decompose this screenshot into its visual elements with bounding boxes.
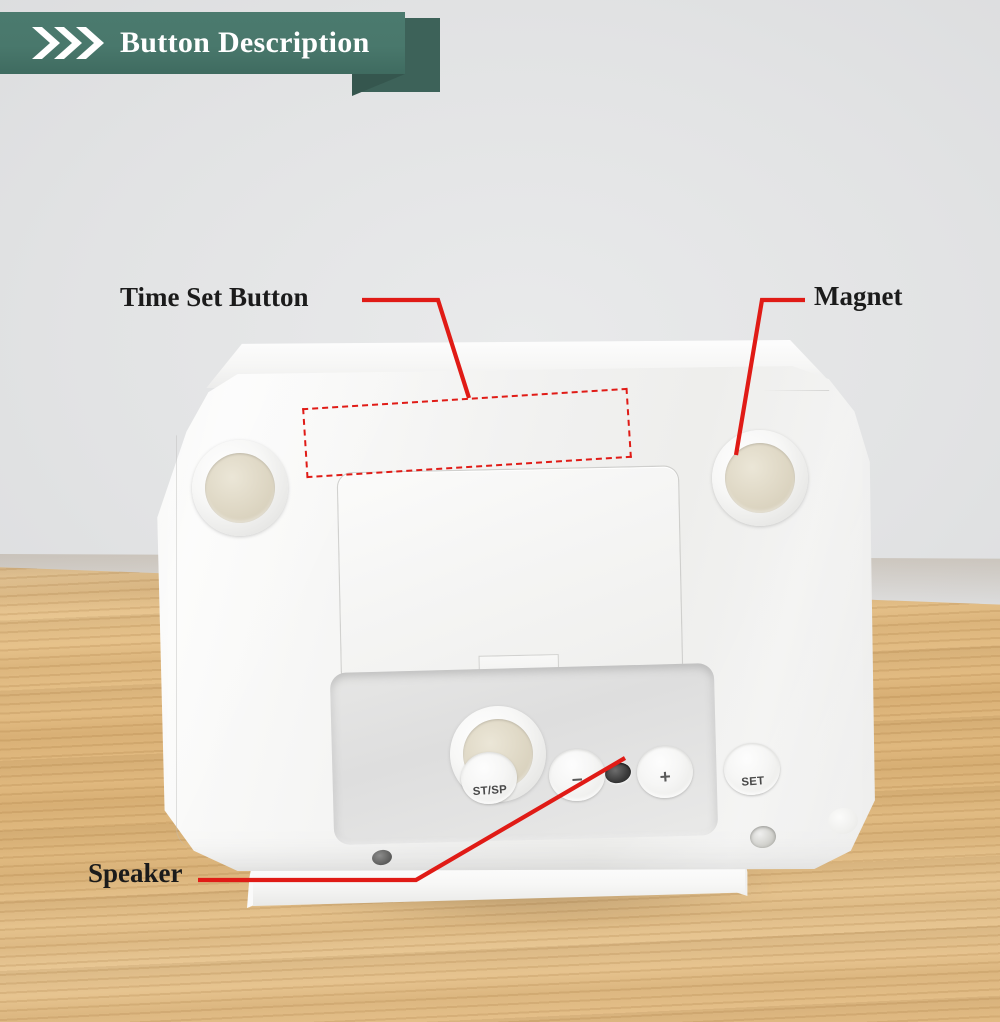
banner-title: Button Description bbox=[120, 26, 370, 60]
callout-label-speaker: Speaker bbox=[88, 858, 183, 889]
callout-label-magnet: Magnet bbox=[814, 281, 902, 312]
product-photo-scene: ST/SP − + SET Time Set Button Magnet Spe… bbox=[0, 0, 1000, 1000]
magnet-metal-face bbox=[722, 440, 798, 516]
triple-chevron-right-icon bbox=[30, 25, 104, 61]
button-plus[interactable]: + bbox=[635, 744, 694, 800]
battery-cover bbox=[338, 466, 682, 685]
banner-ribbon: Button Description bbox=[0, 12, 405, 74]
button-set[interactable]: SET bbox=[722, 741, 781, 797]
button-label: + bbox=[659, 768, 672, 792]
button-label: SET bbox=[741, 776, 765, 789]
button-st-sp[interactable]: ST/SP bbox=[459, 750, 518, 806]
header-banner: Button Description bbox=[0, 0, 440, 108]
control-button-row: ST/SP − + SET bbox=[457, 742, 779, 804]
button-minus[interactable]: − bbox=[547, 747, 606, 803]
button-label: − bbox=[571, 771, 584, 795]
button-label: ST/SP bbox=[472, 784, 507, 798]
callout-label-time-set-button: Time Set Button bbox=[120, 282, 309, 313]
magnet-metal-face bbox=[202, 450, 278, 526]
